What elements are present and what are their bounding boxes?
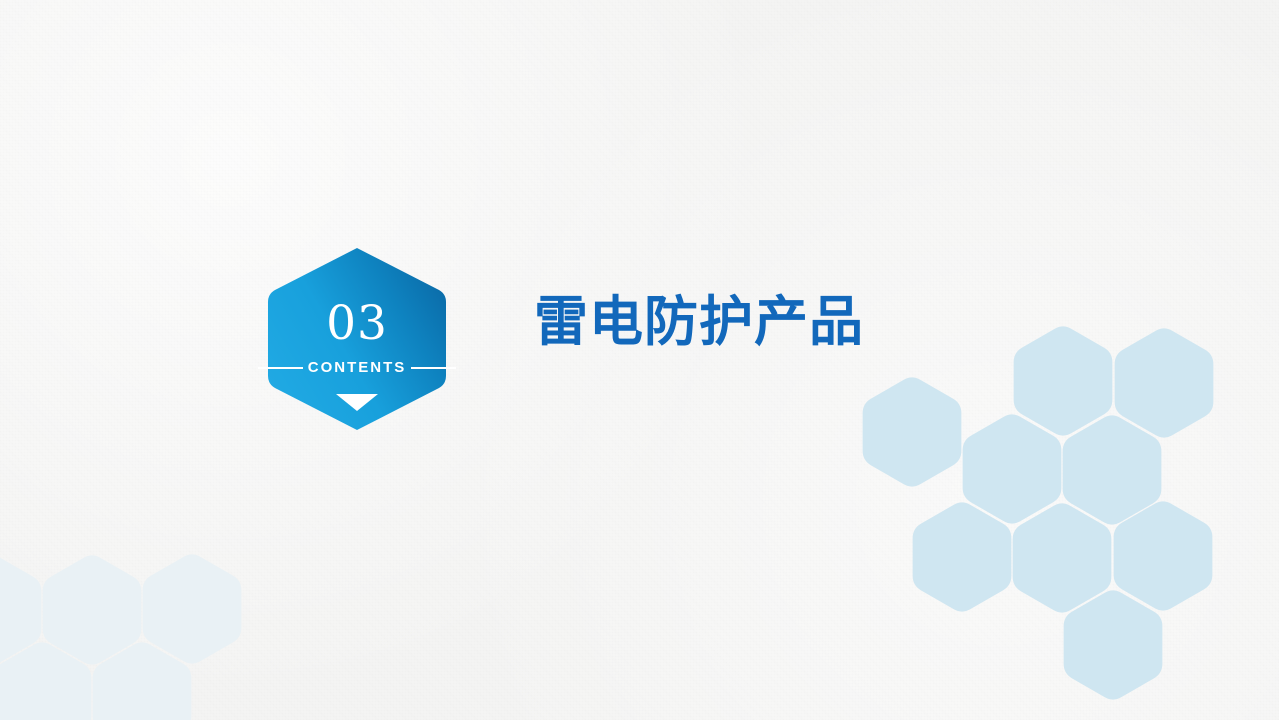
hexagon-decor-left <box>0 0 1279 720</box>
contents-rule-right <box>411 367 456 369</box>
hexagon-shape <box>143 554 242 663</box>
triangle-down-icon <box>336 394 378 411</box>
badge-contents-row: CONTENTS <box>258 357 456 379</box>
section-number-badge: 03 CONTENTS <box>266 246 448 432</box>
hexagon-shape <box>863 377 962 486</box>
hexagon-shape <box>1115 328 1214 437</box>
hexagon-shape <box>43 555 142 664</box>
hexagon-shape <box>913 502 1012 611</box>
background-texture <box>0 0 1279 720</box>
hexagon-decor-right <box>0 0 1279 720</box>
slide-canvas: 03 CONTENTS 雷电防护产品 <box>0 0 1279 720</box>
badge-contents-label: CONTENTS <box>303 360 412 376</box>
hexagon-shape <box>0 555 41 664</box>
hexagon-shape <box>1064 590 1163 699</box>
badge-number: 03 <box>266 298 448 350</box>
hexagon-shape <box>1013 503 1112 612</box>
hexagon-shape <box>1114 501 1213 610</box>
hexagon-shape <box>0 642 91 720</box>
page-title: 雷电防护产品 <box>534 291 864 353</box>
hexagon-shape <box>1063 415 1162 524</box>
hexagon-shape <box>93 642 192 720</box>
hexagon-shape <box>1014 326 1113 435</box>
contents-rule-left <box>258 367 303 369</box>
hexagon-shape <box>963 414 1062 523</box>
